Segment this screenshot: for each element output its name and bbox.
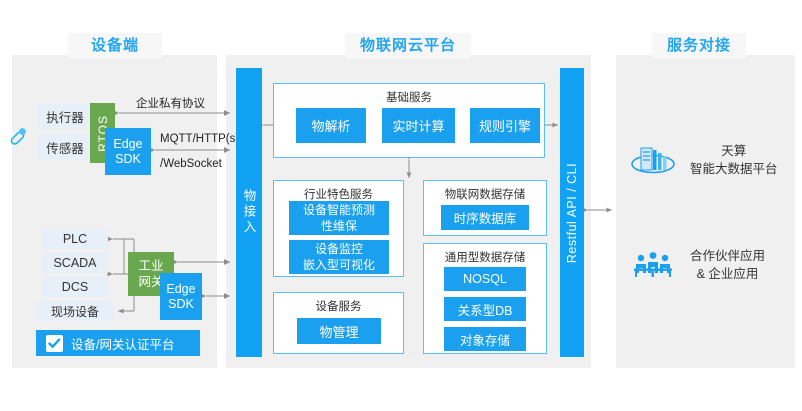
edge-sdk-block-device: Edge SDK <box>105 128 151 175</box>
edge-sdk-block-gateway: Edge SDK <box>160 273 202 320</box>
restful-api-cli-bar: Restful API / CLI <box>560 68 584 357</box>
general-data-storage-title: 通用型数据存储 <box>424 249 546 265</box>
label-websocket: /WebSocket <box>160 158 222 170</box>
label-private-protocol: 企业私有协议 <box>136 95 205 111</box>
edge-sdk2-line1: Edge <box>166 282 195 297</box>
device-actuator: 执行器 <box>38 103 92 129</box>
gateway-line1: 工业 <box>138 258 163 274</box>
basic-service-item-thing-parsing: 物解析 <box>296 108 366 143</box>
general-storage-item-object-storage: 对象存储 <box>444 327 526 351</box>
service-item-partner-apps: 合作伙伴应用 & 企业应用 <box>630 245 765 285</box>
thing-access-label: 物接入 <box>240 189 259 236</box>
device-field-equipment: 现场设备 <box>36 301 114 321</box>
label-mqtt-http: MQTT/HTTP(s) <box>160 133 239 145</box>
device-scada: SCADA <box>42 253 108 273</box>
industry-item-predictive-maintenance: 设备智能预测 性维保 <box>289 201 389 235</box>
partner-line2: & 企业应用 <box>690 265 765 283</box>
edge-sdk-line1: Edge <box>113 137 142 152</box>
edge-sdk2-line2: SDK <box>168 297 194 312</box>
panel-service-docking <box>616 55 795 368</box>
industry-item-1-line1: 设备智能预测 <box>303 202 375 218</box>
diagram-canvas: 设备端 物联网云平台 服务对接 <box>0 0 802 411</box>
industry-service-title: 行业特色服务 <box>274 186 403 202</box>
tiansuan-line1: 天算 <box>690 142 778 160</box>
general-storage-item-nosql: NOSQL <box>444 267 526 291</box>
section-title-device: 设备端 <box>68 33 162 59</box>
industry-item-1-line2: 性维保 <box>321 218 357 234</box>
service-item-partner-text: 合作伙伴应用 & 企业应用 <box>690 247 765 283</box>
tiansuan-line2: 智能大数据平台 <box>690 160 778 178</box>
partner-line1: 合作伙伴应用 <box>690 247 765 265</box>
edge-sdk-line2: SDK <box>115 152 141 167</box>
industry-item-2-line2: 嵌入型可视化 <box>303 257 375 273</box>
device-sensor: 传感器 <box>38 134 92 160</box>
device-gateway-auth-platform: 设备/网关认证平台 <box>36 330 200 356</box>
thing-access-bar: 物接入 <box>236 68 262 357</box>
basic-service-title: 基础服务 <box>274 89 544 105</box>
industry-item-2-line1: 设备监控 <box>315 241 363 257</box>
bigdata-server-icon <box>630 140 676 180</box>
section-title-service: 服务对接 <box>652 33 746 59</box>
industry-item-device-monitoring: 设备监控 嵌入型可视化 <box>289 240 389 274</box>
service-item-tiansuan-text: 天算 智能大数据平台 <box>690 142 778 178</box>
device-dcs: DCS <box>42 277 108 297</box>
plug-icon <box>6 122 32 148</box>
iot-storage-item-timeseries-db: 时序数据库 <box>441 205 529 230</box>
auth-platform-label: 设备/网关认证平台 <box>71 334 174 353</box>
basic-service-item-realtime-compute: 实时计算 <box>382 108 455 143</box>
restful-api-cli-label: Restful API / CLI <box>565 162 579 262</box>
device-plc: PLC <box>42 229 108 249</box>
basic-service-item-rule-engine: 规则引擎 <box>470 108 540 143</box>
general-storage-item-relational-db: 关系型DB <box>444 297 526 321</box>
iot-data-storage-title: 物联网数据存储 <box>424 186 546 202</box>
partners-meeting-icon <box>630 245 676 285</box>
section-title-cloud: 物联网云平台 <box>345 33 471 59</box>
device-service-title: 设备服务 <box>274 298 403 314</box>
check-icon <box>46 335 63 352</box>
service-item-tiansuan: 天算 智能大数据平台 <box>630 140 778 180</box>
device-service-item-thing-management: 物管理 <box>297 318 381 344</box>
